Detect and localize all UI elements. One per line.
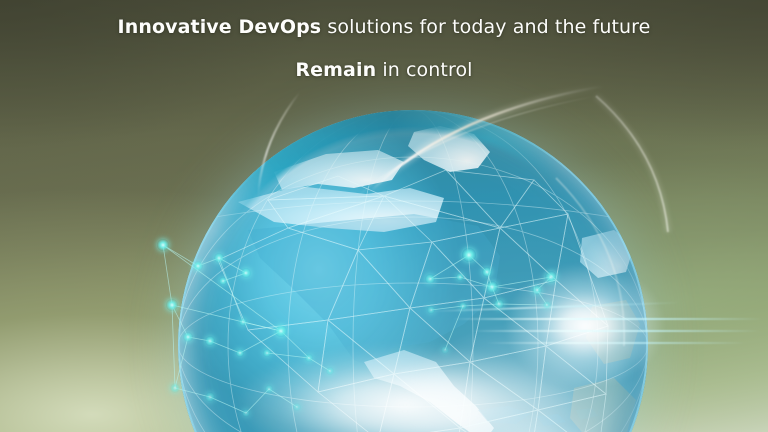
hero-banner: Innovative DevOps solutions for today an… (0, 0, 768, 432)
headline-line-2-rest: in control (376, 59, 472, 81)
headline-block: Innovative DevOps solutions for today an… (0, 12, 768, 85)
headline-line-2: Remain in control (0, 55, 768, 85)
headline-line-2-bold: Remain (295, 59, 376, 81)
headline-line-1: Innovative DevOps solutions for today an… (0, 12, 768, 42)
headline-line-1-bold: Innovative DevOps (118, 16, 322, 38)
headline-line-1-rest: solutions for today and the future (321, 16, 650, 38)
